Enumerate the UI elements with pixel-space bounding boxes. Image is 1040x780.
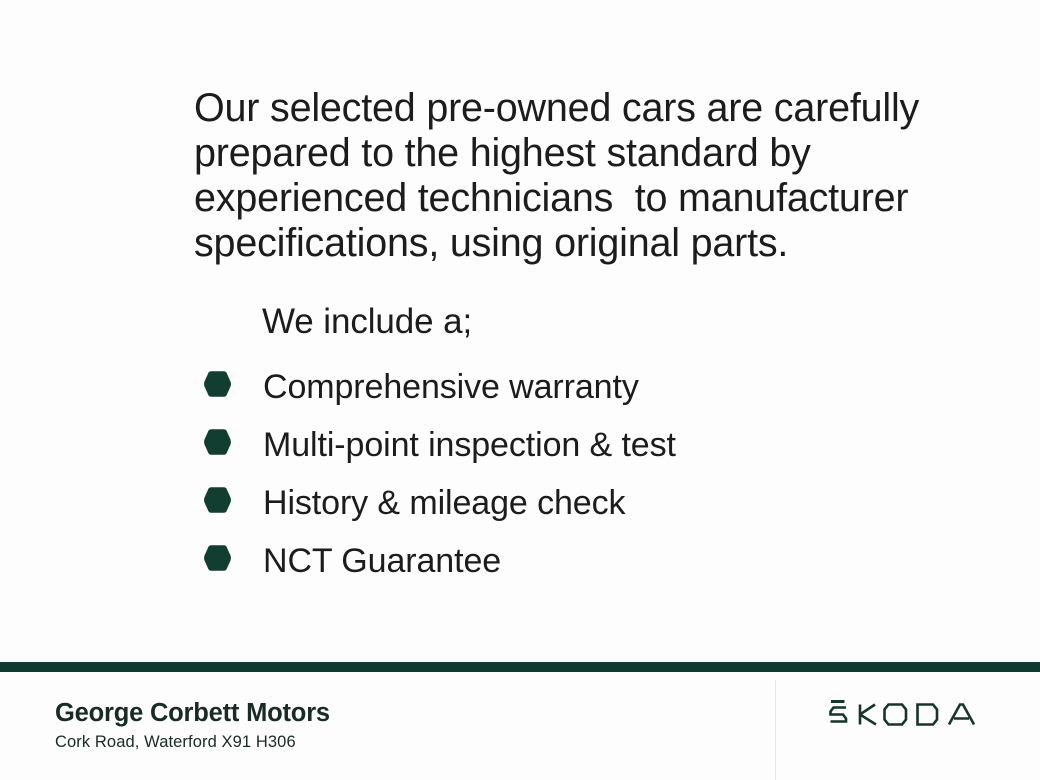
- hexagon-bullet-icon: [203, 544, 232, 572]
- slide-body: Our selected pre-owned cars are carefull…: [0, 0, 1040, 662]
- brand-divider-rule: [0, 662, 1040, 672]
- list-item: Multi-point inspection & test: [194, 416, 894, 474]
- list-item-label: Multi-point inspection & test: [263, 426, 676, 464]
- list-item-label: NCT Guarantee: [263, 542, 501, 580]
- headline-line-2: prepared to the highest standard by: [194, 131, 884, 176]
- hexagon-bullet-icon: [203, 370, 232, 398]
- headline-line-3: experienced technicians to manufacturer: [194, 176, 884, 221]
- list-item: History & mileage check: [194, 474, 894, 532]
- skoda-wordmark-logo: [829, 698, 987, 728]
- hexagon-bullet-icon: [203, 428, 232, 456]
- list-item-label: Comprehensive warranty: [263, 368, 639, 406]
- footer-vertical-divider: [775, 680, 776, 780]
- list-item-label: History & mileage check: [263, 484, 625, 522]
- headline-paragraph: Our selected pre-owned cars are carefull…: [194, 86, 884, 266]
- list-item: Comprehensive warranty: [194, 358, 894, 416]
- inclusions-list: Comprehensive warranty Multi-point inspe…: [194, 358, 894, 590]
- list-item: NCT Guarantee: [194, 532, 894, 590]
- dealer-name: George Corbett Motors: [55, 698, 330, 729]
- hexagon-bullet-icon: [203, 486, 232, 514]
- headline-line-4: specifications, using original parts.: [194, 221, 884, 266]
- footer: George Corbett Motors Cork Road, Waterfo…: [0, 672, 1040, 780]
- include-intro-text: We include a;: [262, 301, 472, 343]
- dealer-info: George Corbett Motors Cork Road, Waterfo…: [55, 698, 330, 753]
- dealer-address: Cork Road, Waterford X91 H306: [55, 732, 330, 753]
- headline-line-1: Our selected pre-owned cars are carefull…: [194, 86, 884, 131]
